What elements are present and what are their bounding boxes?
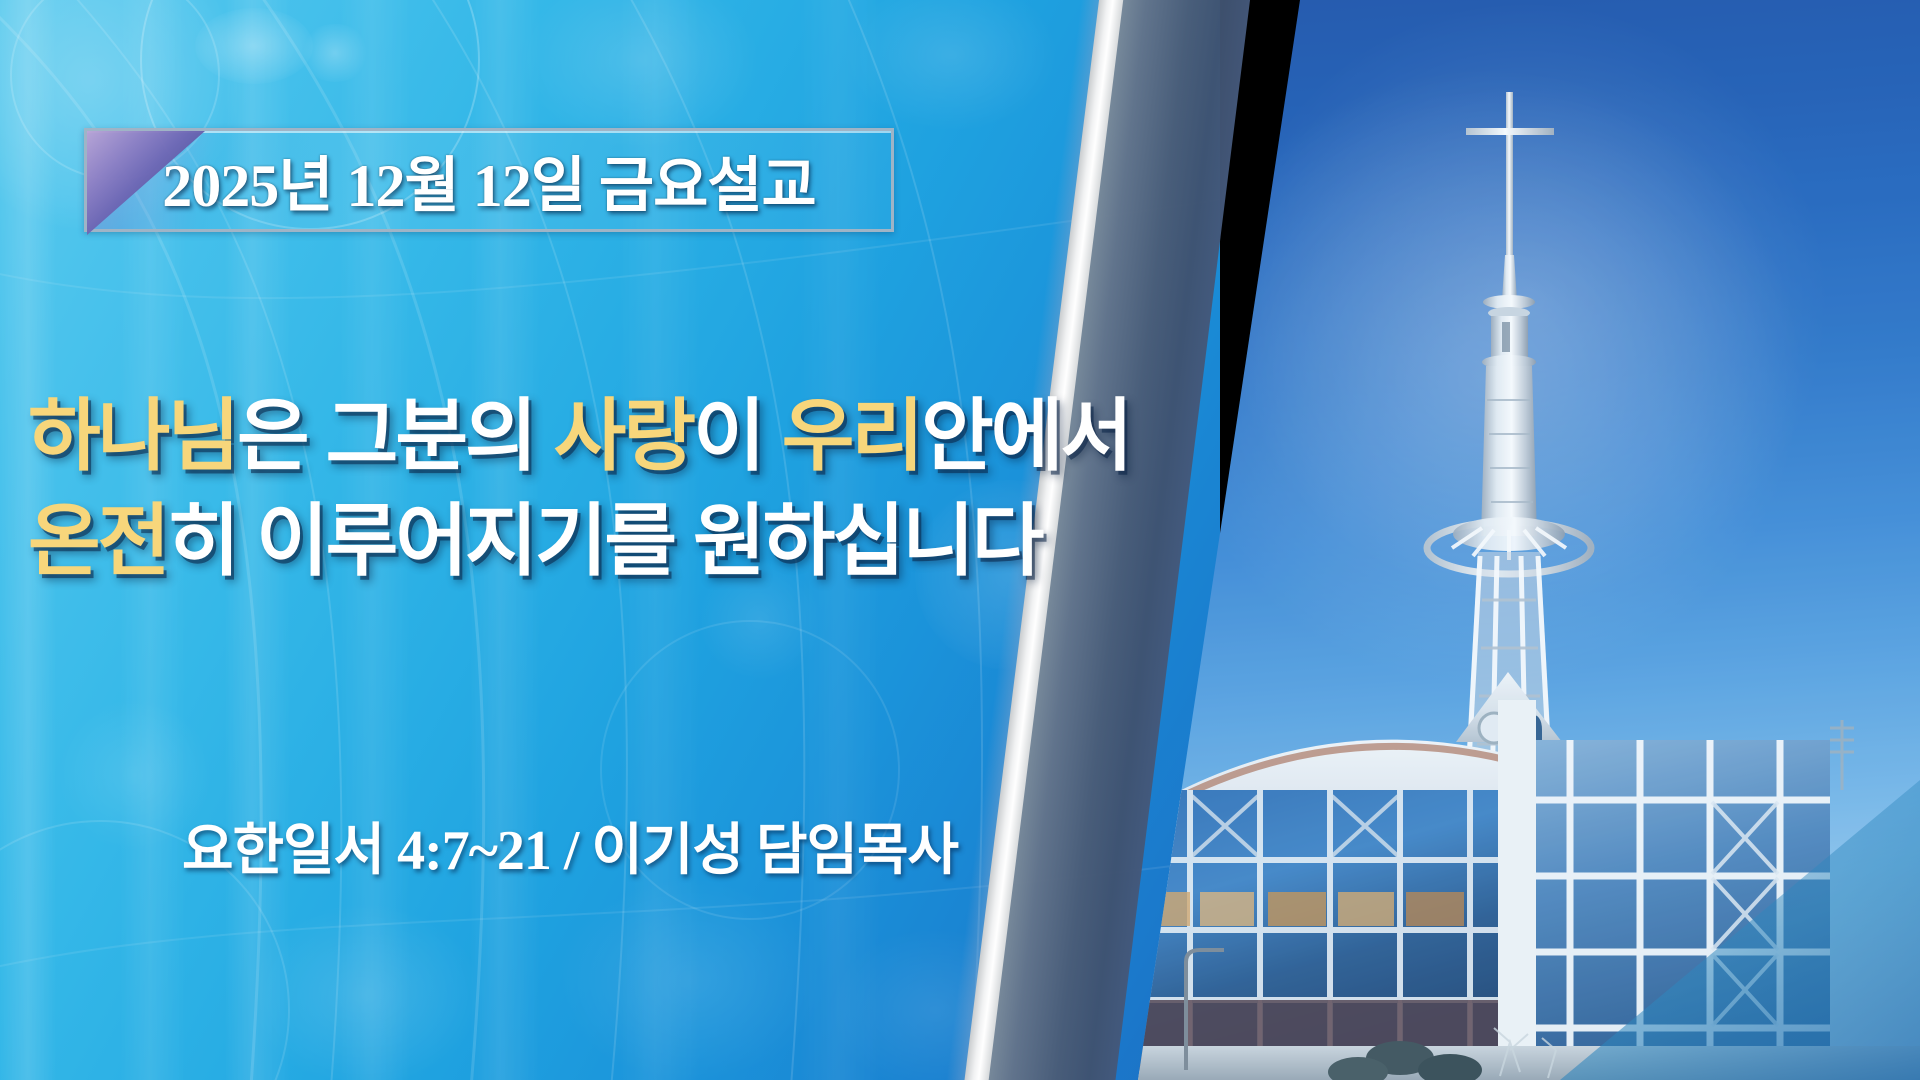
- sermon-title: 하나님은 그분의 사랑이 우리안에서 온전히 이루어지기를 원하십니다: [28, 383, 1058, 593]
- title-seg-white: 은 그분의: [237, 391, 554, 480]
- scripture-reference: 요한일서 4:7~21 / 이기성 담임목사: [182, 805, 1082, 886]
- title-seg-gold: 사랑: [554, 391, 693, 480]
- title-seg-white: 히 이루어지기를 원하십니다: [167, 496, 1041, 585]
- title-seg-gold: 온전: [28, 496, 167, 585]
- date-banner: 2025년 12월 12일 금요설교: [84, 128, 894, 232]
- title-seg-gold: 우리: [782, 391, 921, 480]
- title-seg-white: 안에서: [921, 391, 1130, 480]
- title-seg-white: 이: [693, 391, 782, 480]
- sermon-title-slide: 2025년 12월 12일 금요설교 하나님은 그분의 사랑이 우리안에서 온전…: [0, 0, 1920, 1080]
- title-line-1: 하나님은 그분의 사랑이 우리안에서: [28, 383, 1058, 488]
- title-seg-gold: 하나님: [28, 391, 237, 480]
- date-text: 2025년 12월 12일 금요설교: [162, 137, 815, 224]
- title-line-2: 온전히 이루어지기를 원하십니다: [28, 488, 1058, 593]
